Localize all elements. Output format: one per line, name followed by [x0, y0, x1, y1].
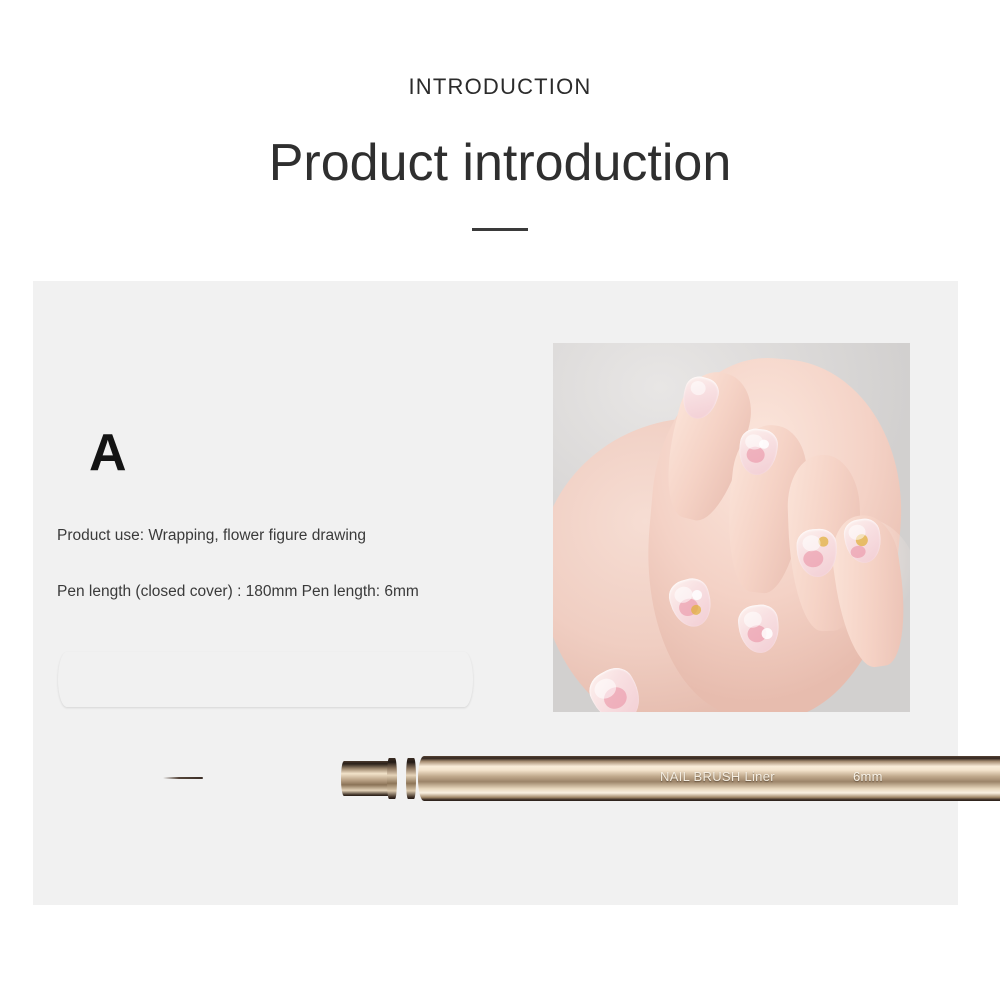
- gold-pen-cap: [58, 652, 473, 707]
- product-use-text: Product use: Wrapping, flower figure dra…: [57, 526, 366, 546]
- ferrule-ring: [406, 758, 416, 799]
- content-panel: A Product use: Wrapping, flower figure d…: [33, 281, 958, 905]
- nail-flower-petal: [819, 536, 829, 547]
- section-eyebrow: INTRODUCTION: [0, 74, 1000, 100]
- nail-flower-petal: [850, 544, 866, 558]
- page-header: INTRODUCTION Product introduction: [0, 0, 1000, 281]
- nail-flower-petal: [746, 446, 765, 464]
- nail-flower-petal: [761, 627, 773, 639]
- nail-art-photo: [553, 343, 910, 712]
- pen-length-text: Pen length (closed cover) : 180mm Pen le…: [57, 582, 419, 602]
- nail-flower-petal: [758, 439, 769, 449]
- nail-flower-petal: [601, 684, 631, 712]
- title-divider: [472, 228, 528, 231]
- pen-neck-section: [341, 761, 393, 796]
- nail-flower-petal: [803, 550, 824, 568]
- page-title: Product introduction: [0, 133, 1000, 193]
- ferrule-ring: [387, 758, 397, 799]
- pen-barrel: [418, 756, 1000, 801]
- gold-liner-pen: NAIL BRUSH Liner 6mm: [163, 736, 963, 816]
- brush-bristle-tip: [163, 777, 203, 779]
- variant-letter-badge: A: [89, 427, 127, 479]
- brush-taper-cone: [199, 766, 347, 792]
